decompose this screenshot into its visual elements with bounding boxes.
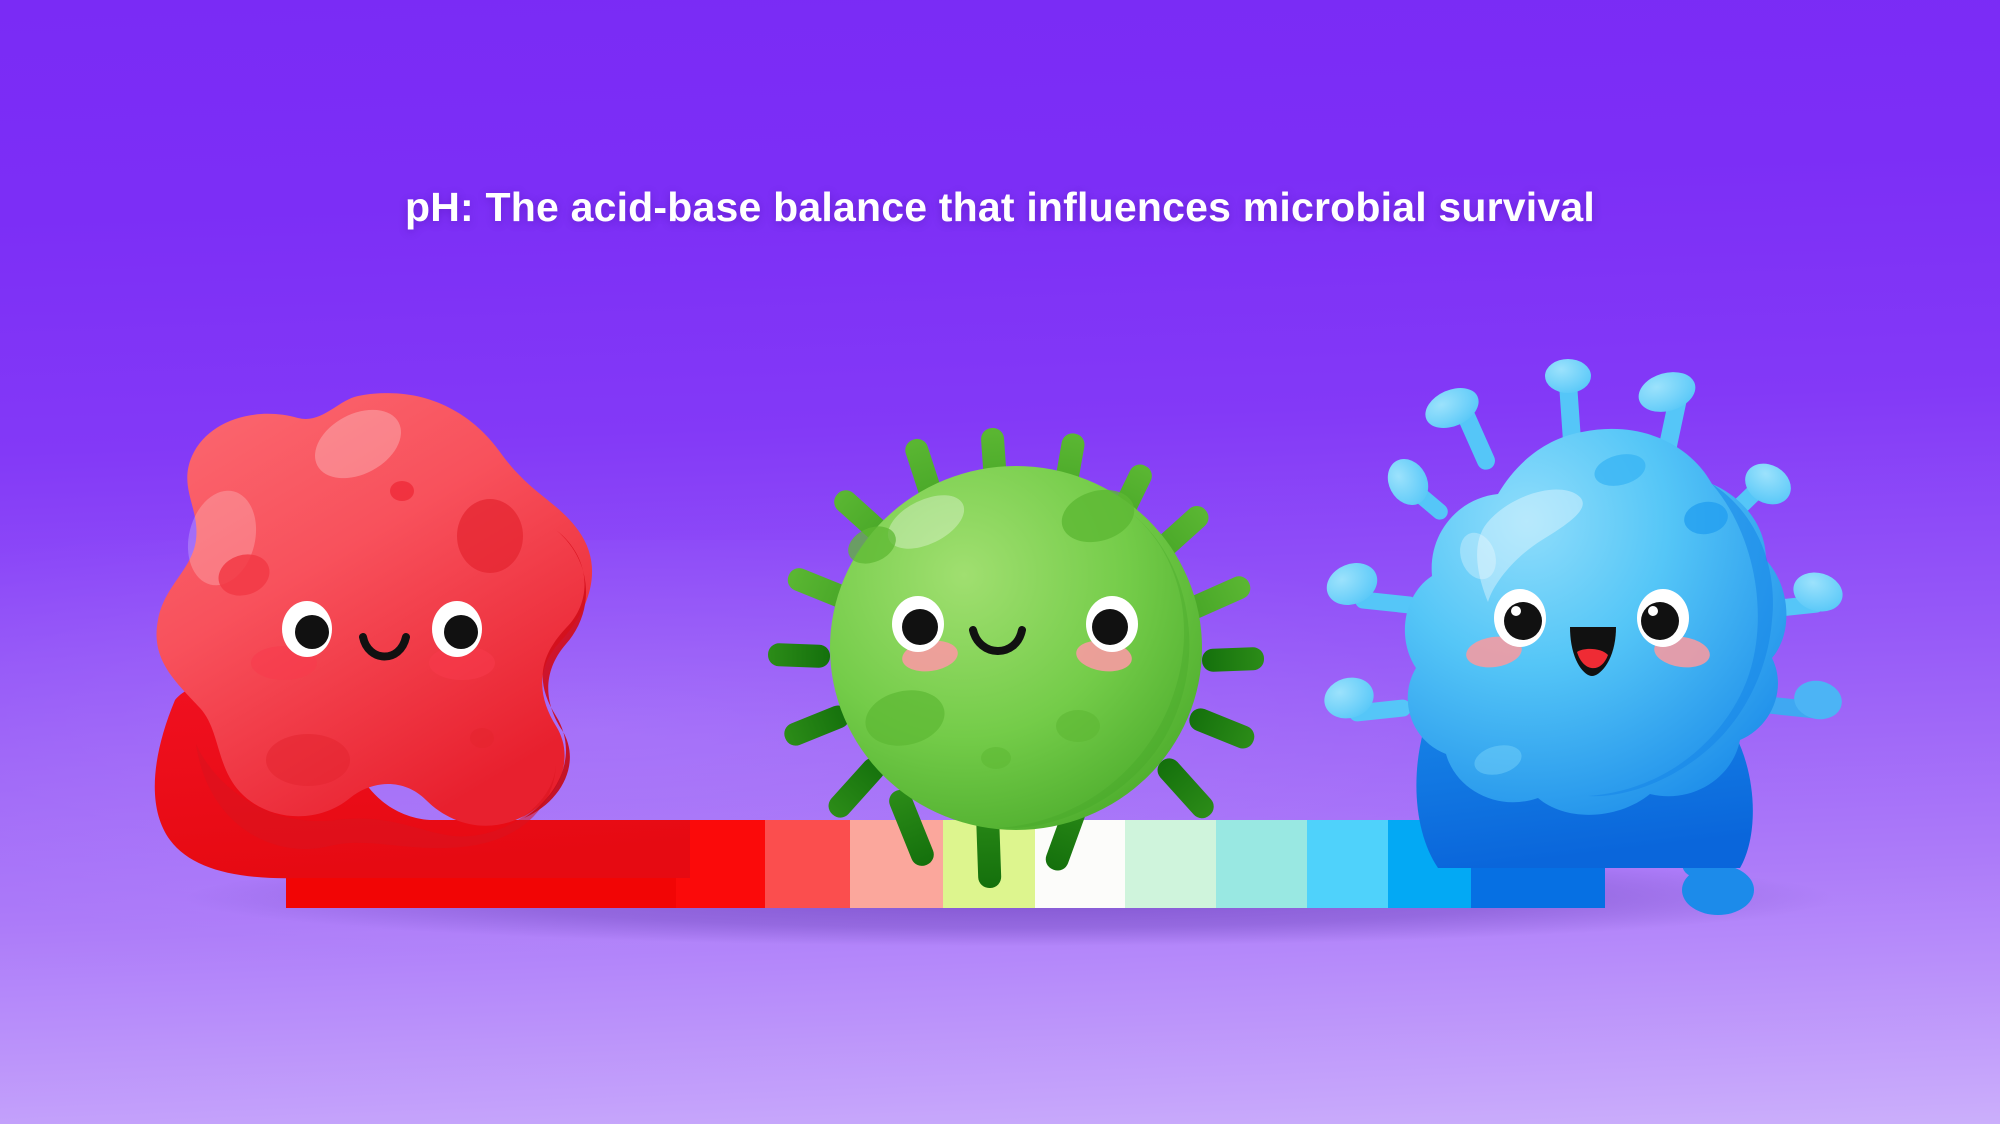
- acid-blob-spot-5: [470, 728, 494, 748]
- acid-blob-spot-3: [457, 499, 523, 573]
- neutral-microbe-spot-5: [981, 747, 1011, 769]
- neutral-microbe-eye-right: [1086, 596, 1138, 652]
- ph-band-mild-acid[interactable]: [850, 820, 943, 908]
- acid-blob-eye-left: [282, 601, 332, 657]
- scene: [0, 0, 2000, 1124]
- acid-blob-spot-4: [266, 734, 350, 786]
- alkaline-microbe-body: [1405, 429, 1787, 815]
- illustration-canvas: pH: The acid-base balance that influence…: [0, 0, 2000, 1124]
- ph-band-mild-base[interactable]: [1216, 820, 1307, 908]
- acid-blob-eye-right: [432, 601, 482, 657]
- ph-band-weak-acid[interactable]: [765, 820, 850, 908]
- ph-band-slight-base[interactable]: [1125, 820, 1216, 908]
- character-neutral-microbe[interactable]: [768, 427, 1265, 888]
- ph-band-base[interactable]: [1307, 820, 1388, 908]
- alkaline-microbe-eye-right: [1637, 589, 1689, 647]
- acid-blob-spot-1: [390, 481, 414, 501]
- alkaline-microbe-eye-left: [1494, 589, 1546, 647]
- character-acid-blob[interactable]: [155, 393, 690, 878]
- neutral-microbe-spot-4: [1056, 710, 1100, 742]
- neutral-microbe-eye-left: [892, 596, 944, 652]
